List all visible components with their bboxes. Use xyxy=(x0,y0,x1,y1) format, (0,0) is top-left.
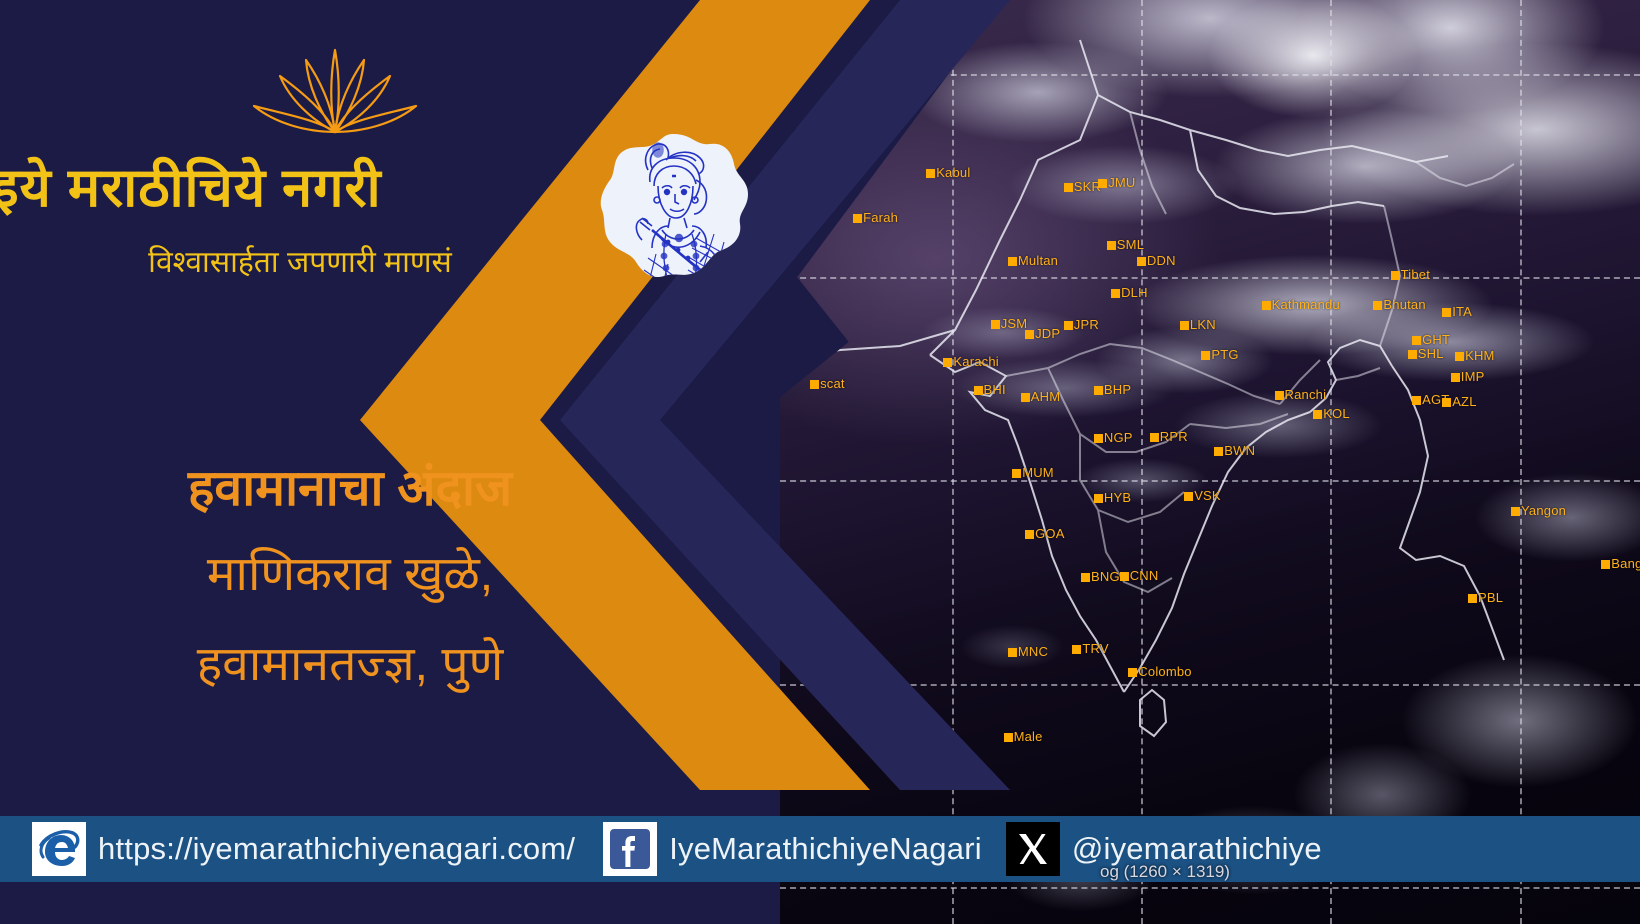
city-marker-icon xyxy=(1064,183,1073,192)
city-label-text: SHL xyxy=(1418,346,1444,361)
city-marker-icon xyxy=(1391,271,1400,280)
poster-root: KabulFarahMultanKarachiscatSKRJMUSMLDDND… xyxy=(0,0,1640,924)
website-url-label: https://iyemarathichiyenagari.com/ xyxy=(86,831,589,867)
internet-explorer-icon xyxy=(32,822,86,876)
city-label: GOA xyxy=(1025,527,1065,540)
city-marker-icon xyxy=(943,358,952,367)
city-marker-icon xyxy=(1012,469,1021,478)
city-label-text: BWN xyxy=(1224,443,1255,458)
city-marker-icon xyxy=(1184,492,1193,501)
city-marker-icon xyxy=(1008,648,1017,657)
city-marker-icon xyxy=(1072,645,1081,654)
city-label-text: GHT xyxy=(1422,332,1450,347)
city-label: DDN xyxy=(1137,254,1176,267)
city-label-text: Kathmandu xyxy=(1272,297,1340,312)
coastline-svg xyxy=(780,0,1640,924)
city-label-text: VSK xyxy=(1194,488,1221,503)
city-marker-icon xyxy=(1137,257,1146,266)
city-label: SHL xyxy=(1408,347,1444,360)
city-label: DLH xyxy=(1111,286,1148,299)
city-marker-icon xyxy=(1201,351,1210,360)
city-label-text: Tibet xyxy=(1401,267,1430,282)
city-marker-icon xyxy=(1021,393,1030,402)
city-label: BWN xyxy=(1214,444,1255,457)
city-label: SML xyxy=(1107,238,1144,251)
city-marker-icon xyxy=(1442,398,1451,407)
brand-title: इये मराठीचिये नगरी xyxy=(0,148,592,222)
city-marker-icon xyxy=(974,386,983,395)
city-label-text: DLH xyxy=(1121,285,1148,300)
city-label: KOL xyxy=(1313,407,1350,420)
city-label: ITA xyxy=(1442,305,1472,318)
city-label: HYB xyxy=(1094,491,1131,504)
city-label-text: ITA xyxy=(1452,304,1472,319)
city-label: Tibet xyxy=(1391,268,1430,281)
city-label: KHM xyxy=(1455,349,1495,362)
city-label-text: GOA xyxy=(1035,526,1065,541)
city-label-text: Bangkok xyxy=(1611,556,1640,571)
city-label-text: PBL xyxy=(1478,590,1503,605)
city-label-text: Colombo xyxy=(1138,664,1191,679)
city-label: Bhutan xyxy=(1373,298,1425,311)
city-label: JDP xyxy=(1025,327,1060,340)
city-label-text: Male xyxy=(1014,729,1043,744)
city-label: Male xyxy=(1004,730,1043,743)
x-twitter-icon xyxy=(1006,822,1060,876)
city-label: Kabul xyxy=(926,166,970,179)
city-label-text: SKR xyxy=(1074,179,1101,194)
city-marker-icon xyxy=(1408,350,1417,359)
city-label-text: SML xyxy=(1117,237,1144,252)
city-label: JPR xyxy=(1064,318,1099,331)
city-marker-icon xyxy=(1468,594,1477,603)
city-label: Kathmandu xyxy=(1262,298,1340,311)
facebook-icon xyxy=(603,822,657,876)
city-label: VSK xyxy=(1184,489,1221,502)
city-marker-icon xyxy=(1107,241,1116,250)
city-marker-icon xyxy=(1111,289,1120,298)
city-label: Farah xyxy=(853,211,898,224)
city-marker-icon xyxy=(1094,434,1103,443)
city-label: RPR xyxy=(1150,430,1188,443)
city-label-text: AZL xyxy=(1452,394,1476,409)
city-label: CNN xyxy=(1120,569,1159,582)
city-label: PBL xyxy=(1468,591,1503,604)
city-marker-icon xyxy=(1313,410,1322,419)
city-marker-icon xyxy=(1094,386,1103,395)
city-marker-icon xyxy=(1455,352,1464,361)
city-marker-icon xyxy=(1094,494,1103,503)
image-dimension-watermark: og (1260 × 1319) xyxy=(1100,862,1230,882)
city-label-text: BHI xyxy=(984,382,1006,397)
city-label: GHT xyxy=(1412,333,1450,346)
city-marker-icon xyxy=(1262,301,1271,310)
city-marker-icon xyxy=(1150,433,1159,442)
brand-tagline: विश्वासार्हता जपणारी माणसं xyxy=(0,240,600,281)
city-label-text: MUM xyxy=(1022,465,1054,480)
city-label-text: RPR xyxy=(1160,429,1188,444)
city-label: BHI xyxy=(974,383,1006,396)
city-label-text: scat xyxy=(820,376,845,391)
city-label: BHP xyxy=(1094,383,1131,396)
author-name: माणिकराव खुळे, xyxy=(0,540,700,605)
city-label-text: HYB xyxy=(1104,490,1131,505)
city-label: JMU xyxy=(1098,176,1135,189)
city-label: Yangon xyxy=(1511,504,1566,517)
city-label-text: CNN xyxy=(1130,568,1159,583)
city-label-text: IMP xyxy=(1461,369,1485,384)
lotus-icon xyxy=(242,16,428,140)
social-item-facebook[interactable]: IyeMarathichiyeNagari xyxy=(603,816,996,882)
city-label: Ranchi xyxy=(1275,388,1327,401)
city-label-text: LKN xyxy=(1190,317,1216,332)
city-marker-icon xyxy=(853,214,862,223)
city-marker-icon xyxy=(1081,573,1090,582)
city-label-text: KOL xyxy=(1323,406,1350,421)
city-marker-icon xyxy=(1275,391,1284,400)
city-marker-icon xyxy=(1373,301,1382,310)
city-label-text: Yangon xyxy=(1521,503,1566,518)
city-label: PTG xyxy=(1201,348,1238,361)
satellite-image-panel: KabulFarahMultanKarachiscatSKRJMUSMLDDND… xyxy=(780,0,1640,924)
city-marker-icon xyxy=(1004,733,1013,742)
city-label: JSM xyxy=(991,317,1028,330)
city-label-text: JDP xyxy=(1035,326,1060,341)
city-marker-icon xyxy=(1180,321,1189,330)
author-designation: हवामानतज्ज्ञ, पुणे xyxy=(0,630,700,695)
city-label-text: MNC xyxy=(1018,644,1048,659)
city-label-text: AHM xyxy=(1031,389,1061,404)
city-label: TRV xyxy=(1072,642,1108,655)
city-label-text: PTG xyxy=(1211,347,1238,362)
city-label: BNG xyxy=(1081,570,1120,583)
city-label-text: JSM xyxy=(1001,316,1028,331)
city-label-text: Kabul xyxy=(936,165,970,180)
city-label-text: Multan xyxy=(1018,253,1058,268)
city-label: AHM xyxy=(1021,390,1061,403)
social-bar: https://iyemarathichiyenagari.com/ IyeMa… xyxy=(0,816,1640,882)
city-marker-icon xyxy=(1025,530,1034,539)
city-label: Karachi xyxy=(943,355,998,368)
city-marker-icon xyxy=(991,320,1000,329)
coastline-overlay xyxy=(780,0,1640,924)
city-marker-icon xyxy=(1008,257,1017,266)
city-label-text: JMU xyxy=(1108,175,1135,190)
city-label: Colombo xyxy=(1128,665,1191,678)
city-label-text: JPR xyxy=(1074,317,1099,332)
city-marker-icon xyxy=(1412,336,1421,345)
city-label: LKN xyxy=(1180,318,1216,331)
city-label-text: DDN xyxy=(1147,253,1176,268)
city-label: MUM xyxy=(1012,466,1054,479)
city-label: Bangkok xyxy=(1601,557,1640,570)
city-label-text: BHP xyxy=(1104,382,1131,397)
city-marker-icon xyxy=(1064,321,1073,330)
city-label-text: KHM xyxy=(1465,348,1495,363)
city-label: MNC xyxy=(1008,645,1048,658)
city-marker-icon xyxy=(1214,447,1223,456)
city-marker-icon xyxy=(1025,330,1034,339)
city-marker-icon xyxy=(1120,572,1129,581)
city-label: AZL xyxy=(1442,395,1476,408)
city-label: scat xyxy=(810,377,845,390)
social-item-website[interactable]: https://iyemarathichiyenagari.com/ xyxy=(32,816,589,882)
city-label-text: Ranchi xyxy=(1285,387,1327,402)
krishna-emblem-icon xyxy=(596,130,752,300)
city-marker-icon xyxy=(810,380,819,389)
city-label: Multan xyxy=(1008,254,1058,267)
page-title: हवामानाचा अंदाज xyxy=(0,452,700,520)
city-label: IMP xyxy=(1451,370,1485,383)
city-label-text: TRV xyxy=(1082,641,1108,656)
city-marker-icon xyxy=(926,169,935,178)
city-marker-icon xyxy=(1098,179,1107,188)
city-marker-icon xyxy=(1511,507,1520,516)
city-label-text: NGP xyxy=(1104,430,1133,445)
city-label: NGP xyxy=(1094,431,1133,444)
city-marker-icon xyxy=(1442,308,1451,317)
city-marker-icon xyxy=(1601,560,1610,569)
city-label-text: Karachi xyxy=(953,354,998,369)
city-label-text: BNG xyxy=(1091,569,1120,584)
city-marker-icon xyxy=(1451,373,1460,382)
city-label-text: Bhutan xyxy=(1383,297,1425,312)
city-label-text: Farah xyxy=(863,210,898,225)
city-label: SKR xyxy=(1064,180,1101,193)
city-marker-icon xyxy=(1128,668,1137,677)
facebook-handle-label: IyeMarathichiyeNagari xyxy=(657,831,996,867)
city-marker-icon xyxy=(1412,396,1421,405)
